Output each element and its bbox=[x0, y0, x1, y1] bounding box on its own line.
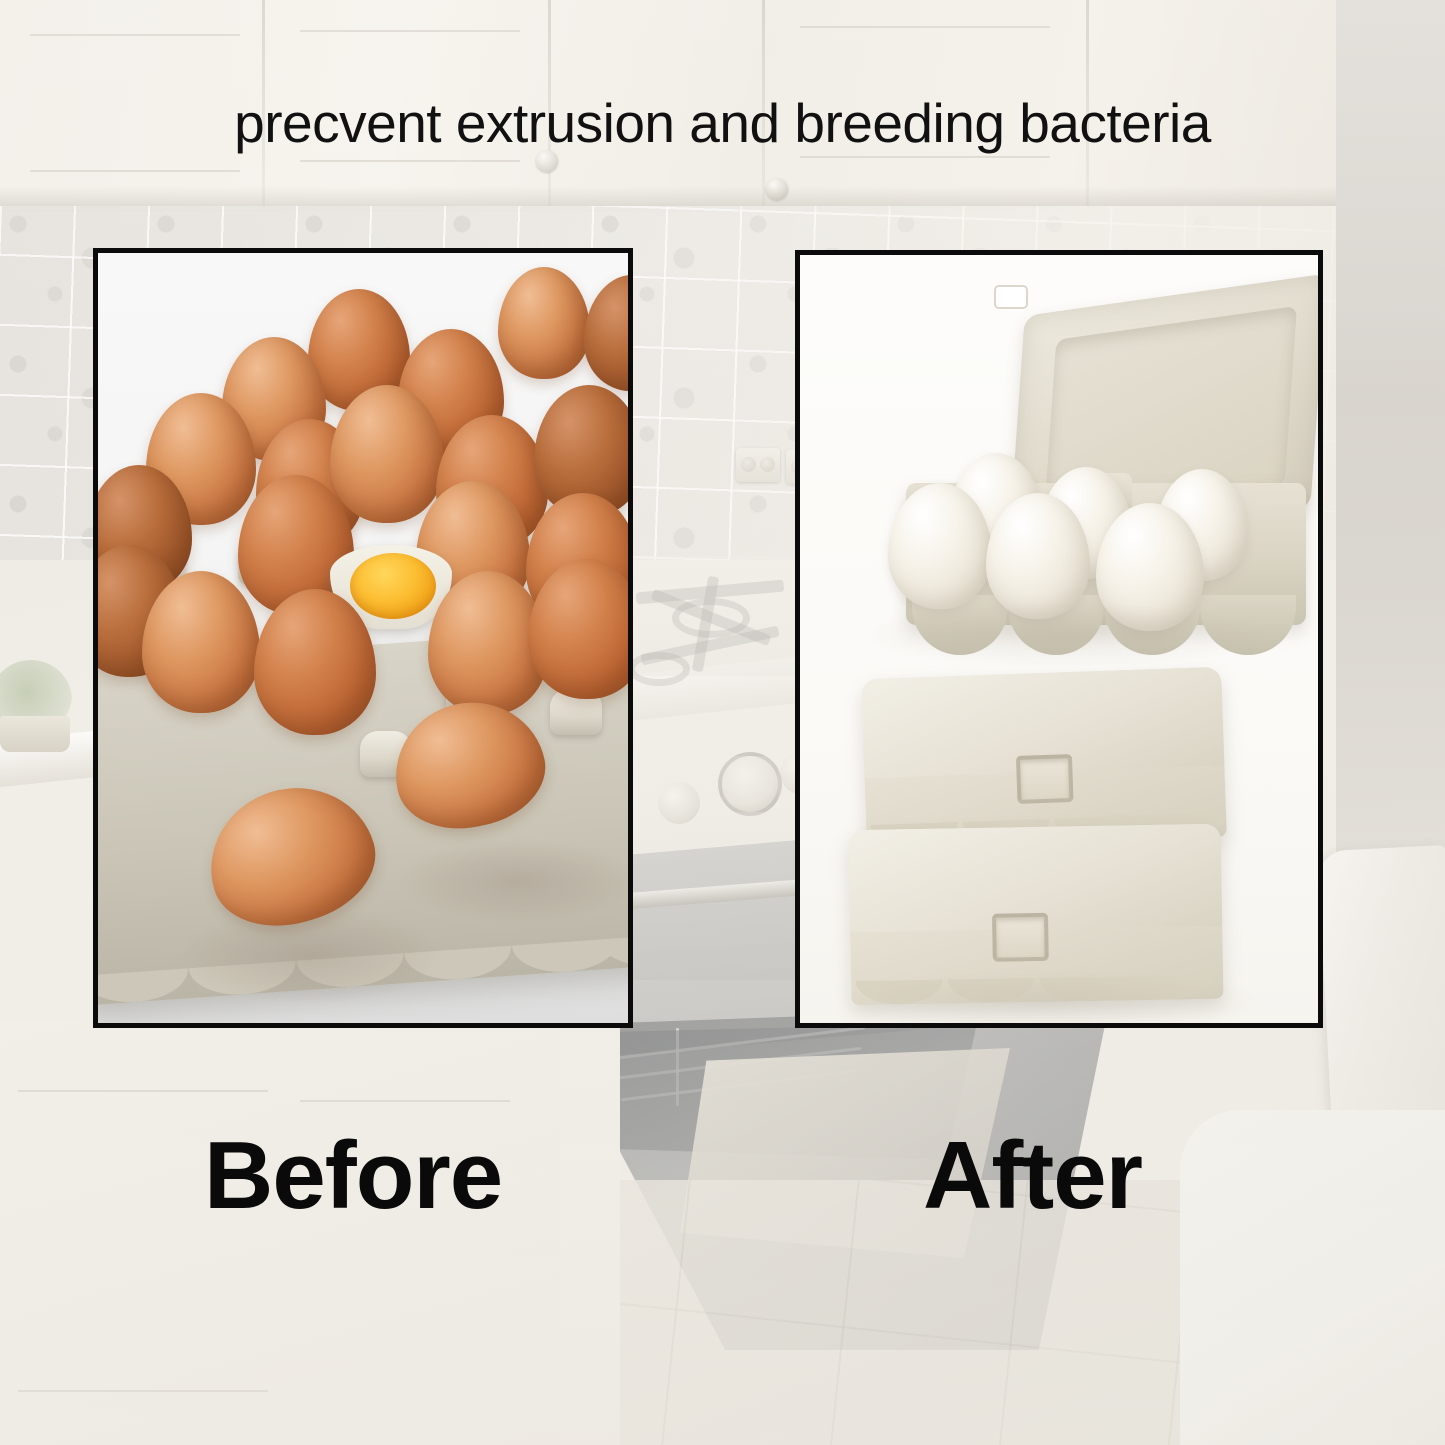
wall-outlet bbox=[736, 448, 780, 482]
egg-yolk bbox=[350, 553, 436, 619]
stove-knob bbox=[658, 782, 700, 824]
cabinet-panel-line bbox=[30, 34, 240, 36]
brown-egg bbox=[498, 267, 590, 379]
closed-carton-top bbox=[861, 667, 1227, 849]
product-comparison-image: precvent extrusion and breeding bacteria bbox=[0, 0, 1445, 1445]
after-photo-panel bbox=[795, 250, 1323, 1028]
lower-cabinet-line bbox=[18, 1390, 268, 1392]
lower-cabinets bbox=[0, 1020, 560, 1445]
after-label: After bbox=[923, 1128, 1142, 1224]
brown-egg bbox=[142, 571, 260, 713]
carton-reflection bbox=[864, 603, 1264, 667]
carton-closure-tab bbox=[992, 913, 1049, 962]
lower-cabinet-line bbox=[300, 1100, 510, 1102]
cabinet-panel-line bbox=[300, 160, 520, 162]
dining-chair bbox=[1318, 845, 1445, 1141]
cabinet-panel-line bbox=[800, 26, 1050, 28]
lower-cabinet-line bbox=[18, 1090, 268, 1092]
carton-lid-tab-slot bbox=[996, 287, 1026, 307]
cabinet-panel-line bbox=[300, 30, 520, 32]
egg-shadow bbox=[182, 907, 442, 1003]
egg-shadow bbox=[398, 839, 628, 923]
before-photo-panel bbox=[93, 248, 633, 1028]
plant-pot bbox=[0, 716, 70, 752]
after-photo-backdrop bbox=[800, 255, 1318, 1023]
before-photo-inner bbox=[98, 253, 628, 1023]
cabinet-panel-line bbox=[800, 156, 1050, 158]
before-label: Before bbox=[204, 1128, 502, 1224]
brown-egg bbox=[584, 275, 628, 391]
cabinet-panel-line bbox=[30, 170, 240, 172]
page-title: precvent extrusion and breeding bacteria bbox=[0, 96, 1445, 151]
before-photo-backdrop bbox=[98, 253, 628, 1023]
after-photo-inner bbox=[800, 255, 1318, 1023]
oven-temperature-gauge bbox=[718, 752, 782, 816]
dining-table bbox=[1180, 1110, 1445, 1445]
carton-closure-tab bbox=[1016, 754, 1074, 804]
